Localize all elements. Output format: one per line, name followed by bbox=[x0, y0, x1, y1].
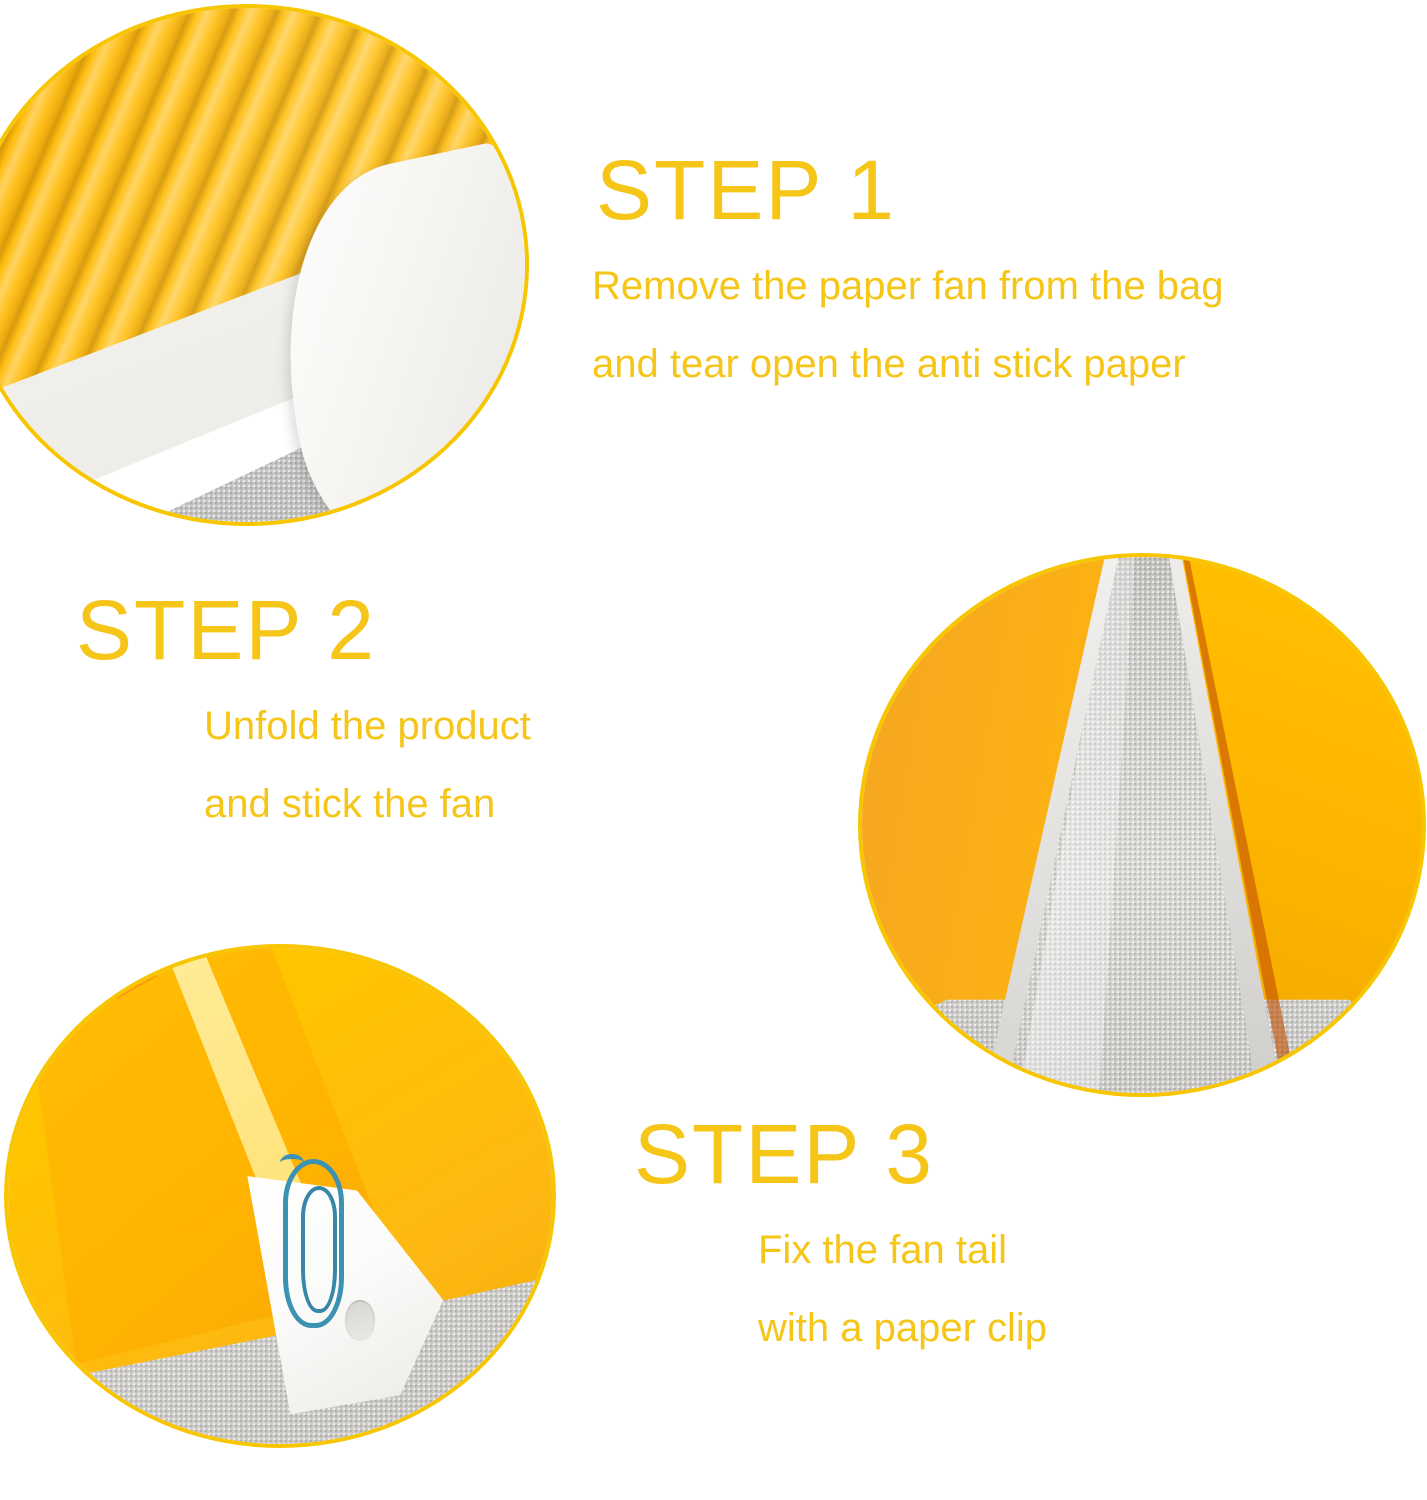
step-1-line-2: and tear open the anti stick paper bbox=[592, 344, 1223, 384]
step-1-title: STEP 1 bbox=[596, 148, 1223, 232]
step-3-photo-circle bbox=[4, 944, 556, 1448]
blue-paper-clip-tip bbox=[280, 1154, 304, 1172]
blue-paper-clip-inner-loop bbox=[301, 1186, 337, 1313]
step-2-line-2: and stick the fan bbox=[204, 784, 531, 824]
step-2-line-1: Unfold the product bbox=[204, 706, 531, 746]
step-1-text-block: STEP 1 Remove the paper fan from the bag… bbox=[592, 148, 1223, 384]
step-3-title: STEP 3 bbox=[634, 1112, 1047, 1196]
step-2-text-block: STEP 2 Unfold the product and stick the … bbox=[76, 588, 531, 824]
step-1-photo-circle bbox=[0, 4, 529, 526]
step-2-photo-content bbox=[862, 557, 1422, 1093]
step-2-photo-circle bbox=[858, 553, 1426, 1097]
step-3-line-2: with a paper clip bbox=[758, 1308, 1047, 1348]
step-3-text-block: STEP 3 Fix the fan tail with a paper cli… bbox=[634, 1112, 1047, 1348]
instruction-infographic: STEP 1 Remove the paper fan from the bag… bbox=[0, 0, 1427, 1500]
step-3-photo-content bbox=[8, 948, 552, 1444]
tail-tab-hole bbox=[345, 1300, 374, 1341]
step-2-title: STEP 2 bbox=[76, 588, 531, 672]
step-3-line-1: Fix the fan tail bbox=[758, 1230, 1047, 1270]
step-1-photo-content bbox=[0, 8, 525, 522]
step-1-line-1: Remove the paper fan from the bag bbox=[592, 266, 1223, 306]
